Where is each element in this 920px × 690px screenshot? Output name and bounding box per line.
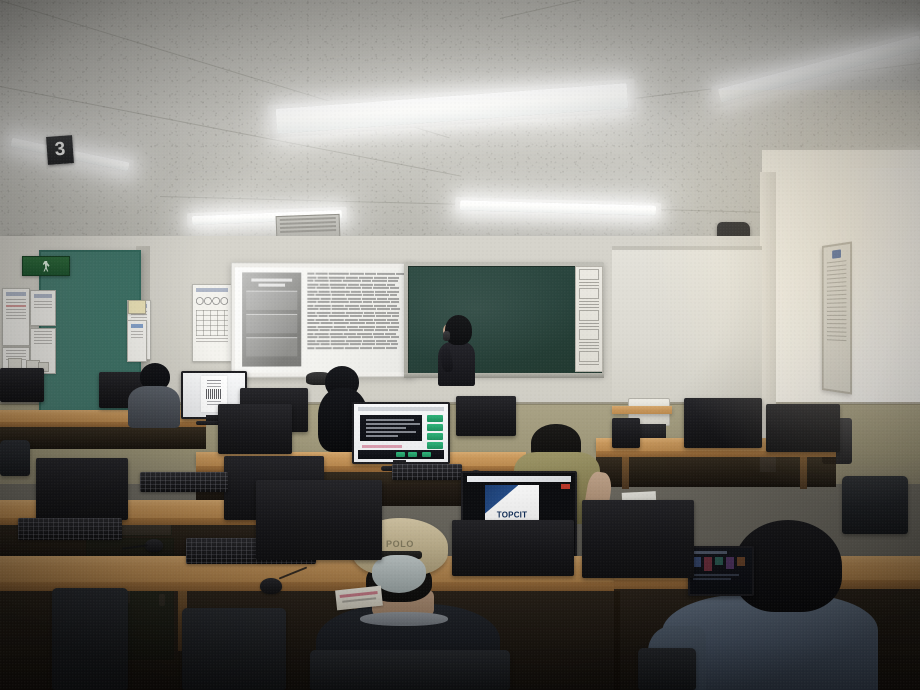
monitor-back-row[interactable] (456, 396, 516, 436)
notice-logo-icon (832, 249, 841, 258)
mouse-row1-center[interactable] (260, 578, 282, 594)
ceiling-sign-3-label: 3 (54, 139, 66, 162)
monitor-back-row[interactable] (766, 404, 840, 452)
chair-foreground-left[interactable] (52, 588, 128, 690)
emergency-exit-sign (22, 256, 70, 276)
keyboard-row1-left[interactable] (18, 518, 122, 540)
monitor-back-row[interactable] (612, 418, 640, 448)
screen-toolbar-button (408, 452, 417, 457)
monitor-row3[interactable] (218, 404, 292, 454)
chalkboard-posted-notice (575, 266, 603, 372)
chair-mid-left[interactable] (0, 440, 30, 476)
wall-poster (2, 288, 30, 346)
screen-toolbar-button (396, 452, 405, 457)
chair-polo-student[interactable] (310, 650, 510, 690)
monitor-back-row[interactable] (684, 398, 762, 448)
roll-down-screen (612, 250, 762, 400)
monitor-right-back[interactable] (582, 500, 694, 578)
running-man-icon (43, 261, 50, 272)
projected-slide (235, 267, 411, 372)
chalkboard-frame (404, 262, 604, 376)
ceiling-number-sign-3: 3 (46, 135, 74, 165)
side-table (612, 406, 672, 414)
screen-green-button (427, 415, 443, 422)
desk-leg (622, 457, 629, 489)
chair-mid[interactable] (842, 476, 908, 534)
desk-leg (800, 457, 807, 489)
wall-notice-yellow (128, 300, 146, 314)
polo-cap-text: POLO (386, 539, 414, 549)
keyboard-row2-left[interactable] (140, 472, 228, 492)
classroom-photo: 3 1 (0, 0, 920, 690)
screen-toolbar-button (422, 452, 431, 457)
keyboard-row3[interactable] (392, 464, 462, 480)
topcit-corner-top (485, 485, 518, 514)
chalkboard-tray (404, 373, 604, 378)
monitor-test-interface[interactable] (352, 402, 450, 464)
student-torso (128, 386, 180, 428)
slide-table (307, 273, 405, 367)
desk-row4-under (0, 427, 206, 449)
slide-title-panel (242, 272, 301, 366)
wall-notice-blue (127, 320, 147, 362)
monitor-back-row[interactable] (0, 368, 44, 402)
monitor-row1-right-dark[interactable] (452, 520, 574, 576)
instructor-hair (445, 315, 472, 345)
chair-foreground-center[interactable] (182, 608, 286, 690)
wall-poster-diagram (192, 284, 232, 362)
student-collar (360, 612, 448, 626)
chair-right[interactable] (638, 648, 696, 690)
monitor-dark-dashboard[interactable] (688, 546, 754, 596)
screen-green-button (427, 433, 443, 440)
monitor-row2-left[interactable] (36, 458, 128, 520)
topcit-wordmark: TOPCIT (497, 510, 527, 519)
projector-screen (231, 262, 415, 378)
ceiling-light-fixture (460, 200, 656, 215)
microphone (443, 331, 450, 341)
monitor-behind-polo[interactable] (256, 480, 382, 560)
framed-wall-notice (822, 241, 852, 394)
wall-poster (30, 290, 56, 326)
screen-green-button (427, 442, 443, 449)
screen-green-button (427, 424, 443, 431)
